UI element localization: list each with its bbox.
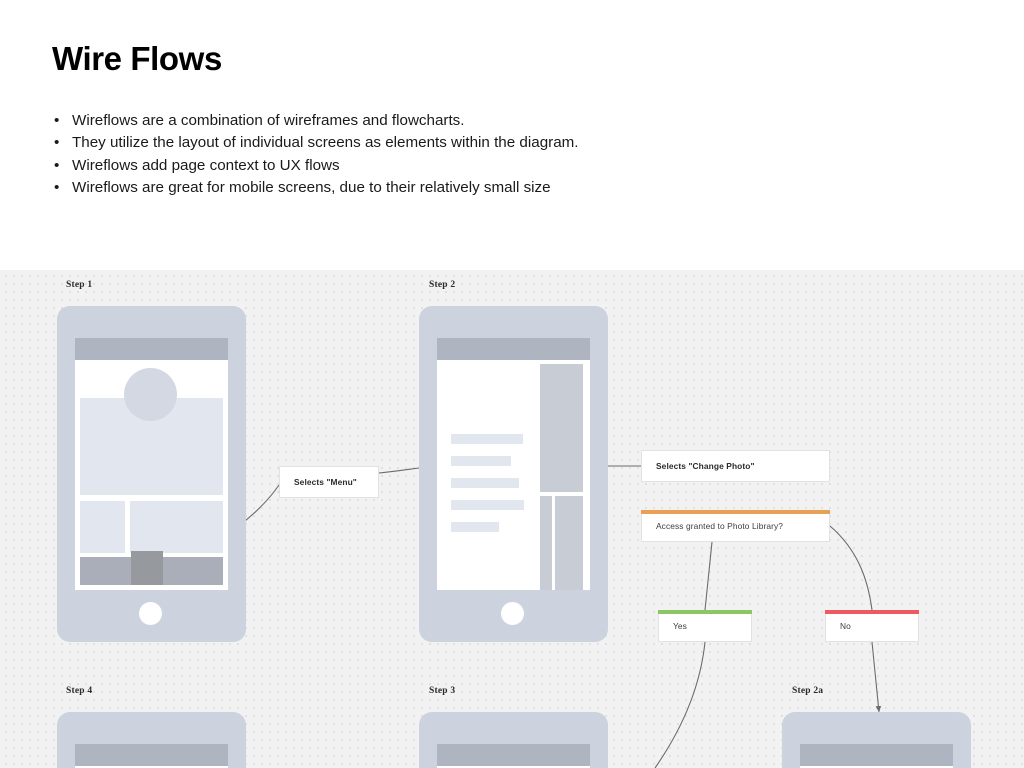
- step-label-2: Step 2: [429, 280, 455, 290]
- list-item-label: Wireflows are a combination of wireframe…: [72, 112, 465, 129]
- bullet-marker-icon: •: [54, 132, 59, 154]
- phone-step-3[interactable]: [419, 712, 608, 768]
- slide: Wire Flows • Wireflows are a combination…: [0, 0, 1024, 768]
- status-bar: [800, 744, 953, 766]
- bullet-marker-icon: •: [54, 110, 59, 132]
- phone-step-1[interactable]: [57, 306, 246, 642]
- page-title: Wire Flows: [52, 40, 222, 78]
- phone-screen-step-1: [75, 338, 228, 590]
- tile-right: [130, 501, 223, 553]
- connector-question-to-yes: [705, 542, 712, 610]
- list-item: • Wireflows are a combination of wirefra…: [52, 110, 932, 132]
- phone-step-4[interactable]: [57, 712, 246, 768]
- menu-item-bar[interactable]: [451, 500, 524, 510]
- tile-left: [80, 501, 125, 553]
- flow-node-label: Access granted to Photo Library?: [642, 521, 783, 531]
- flow-node-label: No: [826, 621, 851, 631]
- list-item-label: Wireflows are great for mobile screens, …: [72, 179, 551, 196]
- connector-no-to-step2a: [872, 642, 879, 712]
- bullet-marker-icon: •: [54, 155, 59, 177]
- bullet-marker-icon: •: [54, 177, 59, 199]
- dimmed-tile-right: [555, 496, 583, 590]
- status-bar: [437, 744, 590, 766]
- connector-question-to-no: [830, 526, 872, 610]
- tab-bar-menu-item[interactable]: [131, 551, 163, 585]
- list-item: • Wireflows are great for mobile screens…: [52, 177, 932, 199]
- list-item: • They utilize the layout of individual …: [52, 132, 932, 154]
- accent-bar-red: [825, 610, 919, 614]
- home-button[interactable]: [139, 602, 162, 625]
- connector-yes-to-step3: [655, 642, 705, 768]
- phone-step-2[interactable]: [419, 306, 608, 642]
- menu-item-bar[interactable]: [451, 522, 499, 532]
- menu-item-bar[interactable]: [451, 456, 511, 466]
- phone-step-2a[interactable]: [782, 712, 971, 768]
- list-item-label: They utilize the layout of individual sc…: [72, 134, 579, 151]
- home-button[interactable]: [501, 602, 524, 625]
- flow-node-label: Selects "Menu": [280, 477, 357, 487]
- step-label-1: Step 1: [66, 280, 92, 290]
- flow-node-selects-change-photo[interactable]: Selects "Change Photo": [641, 450, 830, 482]
- flow-node-access-granted-question[interactable]: Access granted to Photo Library?: [641, 510, 830, 542]
- flow-node-selects-menu[interactable]: Selects "Menu": [279, 466, 379, 498]
- menu-drawer[interactable]: [437, 360, 538, 590]
- flow-node-label: Selects "Change Photo": [642, 461, 755, 471]
- wireflow-canvas: Step 1 Step 2 Step 4 Step 3 Step 2a: [0, 270, 1024, 768]
- phone-screen-step-2a: [800, 744, 953, 768]
- phone-screen-step-2: [437, 338, 590, 590]
- step-label-3: Step 3: [429, 686, 455, 696]
- flow-node-answer-no[interactable]: No: [825, 610, 919, 642]
- menu-item-bar[interactable]: [451, 434, 523, 444]
- dimmed-content-block: [540, 364, 583, 492]
- step-label-4: Step 4: [66, 686, 92, 696]
- phone-screen-step-4: [75, 744, 228, 768]
- list-item-label: Wireflows add page context to UX flows: [72, 157, 340, 174]
- phone-screen-step-3: [437, 744, 590, 768]
- dimmed-tile-left: [540, 496, 552, 590]
- accent-bar-orange: [641, 510, 830, 514]
- flow-node-label: Yes: [659, 621, 687, 631]
- step-label-2a: Step 2a: [792, 686, 823, 696]
- status-bar: [75, 744, 228, 766]
- bullet-list: • Wireflows are a combination of wirefra…: [52, 110, 932, 199]
- status-bar: [75, 338, 228, 360]
- flow-node-answer-yes[interactable]: Yes: [658, 610, 752, 642]
- avatar: [124, 368, 177, 421]
- accent-bar-green: [658, 610, 752, 614]
- status-bar: [437, 338, 590, 360]
- menu-item-bar[interactable]: [451, 478, 519, 488]
- list-item: • Wireflows add page context to UX flows: [52, 155, 932, 177]
